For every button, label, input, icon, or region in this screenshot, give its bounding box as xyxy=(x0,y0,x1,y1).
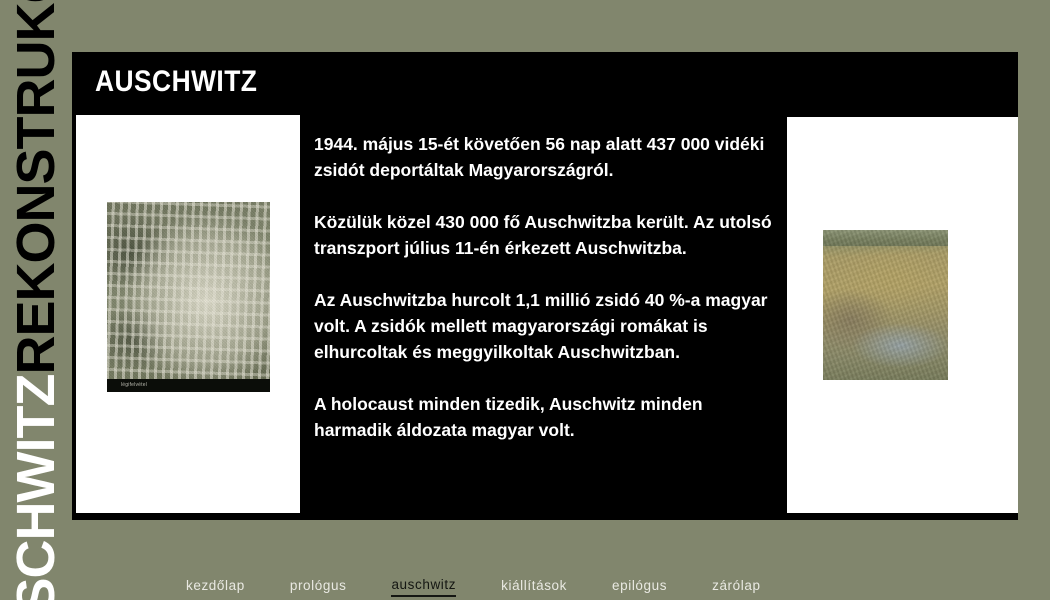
slide-panel: AUSCHWITZ légifelvétel 1944. május 15-ét xyxy=(72,52,1018,520)
vertical-spine-text: AUSCHWITZREKONSTRUKCIÓ xyxy=(6,0,66,600)
aerial-photo-caption-strip: légifelvétel xyxy=(107,379,270,392)
aerial-photo-grain xyxy=(107,202,270,392)
aerial-photo-auschwitz-birkenau: légifelvétel xyxy=(107,202,270,392)
right-image-panel xyxy=(787,117,1018,513)
nav-item-epilogus[interactable]: epilógus xyxy=(612,577,667,595)
bottom-navigation: kezdőlap prológus auschwitz kiállítások … xyxy=(0,572,1050,600)
nav-item-auschwitz[interactable]: auschwitz xyxy=(391,576,456,597)
paragraph-1: 1944. május 15-ét követően 56 nap alatt … xyxy=(314,131,784,183)
page-root: AUSCHWITZREKONSTRUKCIÓ AUSCHWITZ légifel… xyxy=(0,0,1050,600)
body-text: 1944. május 15-ét követően 56 nap alatt … xyxy=(314,131,784,443)
aerial-photo-caption-text: légifelvétel xyxy=(121,381,147,389)
aerial-photo-frame[interactable]: légifelvétel xyxy=(107,202,270,392)
spine-word-auschwitz: AUSCHWITZ xyxy=(6,375,66,600)
ruins-photo-grain xyxy=(823,230,948,380)
page-title: AUSCHWITZ xyxy=(95,65,257,99)
nav-item-zarolap[interactable]: zárólap xyxy=(712,577,760,595)
left-image-panel: légifelvétel xyxy=(76,115,300,513)
paragraph-3: Az Auschwitzba hurcolt 1,1 millió zsidó … xyxy=(314,287,784,365)
nav-item-prologus[interactable]: prológus xyxy=(290,577,347,595)
vertical-spine-title: AUSCHWITZREKONSTRUKCIÓ xyxy=(0,0,72,600)
crematorium-ruins-photo[interactable] xyxy=(823,230,948,380)
paragraph-4: A holocaust minden tizedik, Auschwitz mi… xyxy=(314,391,784,443)
text-column: 1944. május 15-ét követően 56 nap alatt … xyxy=(314,115,784,513)
slide-body: légifelvétel 1944. május 15-ét követően … xyxy=(72,115,1018,520)
nav-item-kiallitasok[interactable]: kiállítások xyxy=(501,577,567,595)
spine-word-rekonstrukcio: REKONSTRUKCIÓ xyxy=(6,0,66,375)
slide-header: AUSCHWITZ xyxy=(72,52,1018,115)
nav-item-kezdolap[interactable]: kezdőlap xyxy=(186,577,245,595)
paragraph-2: Közülük közel 430 000 fő Auschwitzba ker… xyxy=(314,209,784,261)
